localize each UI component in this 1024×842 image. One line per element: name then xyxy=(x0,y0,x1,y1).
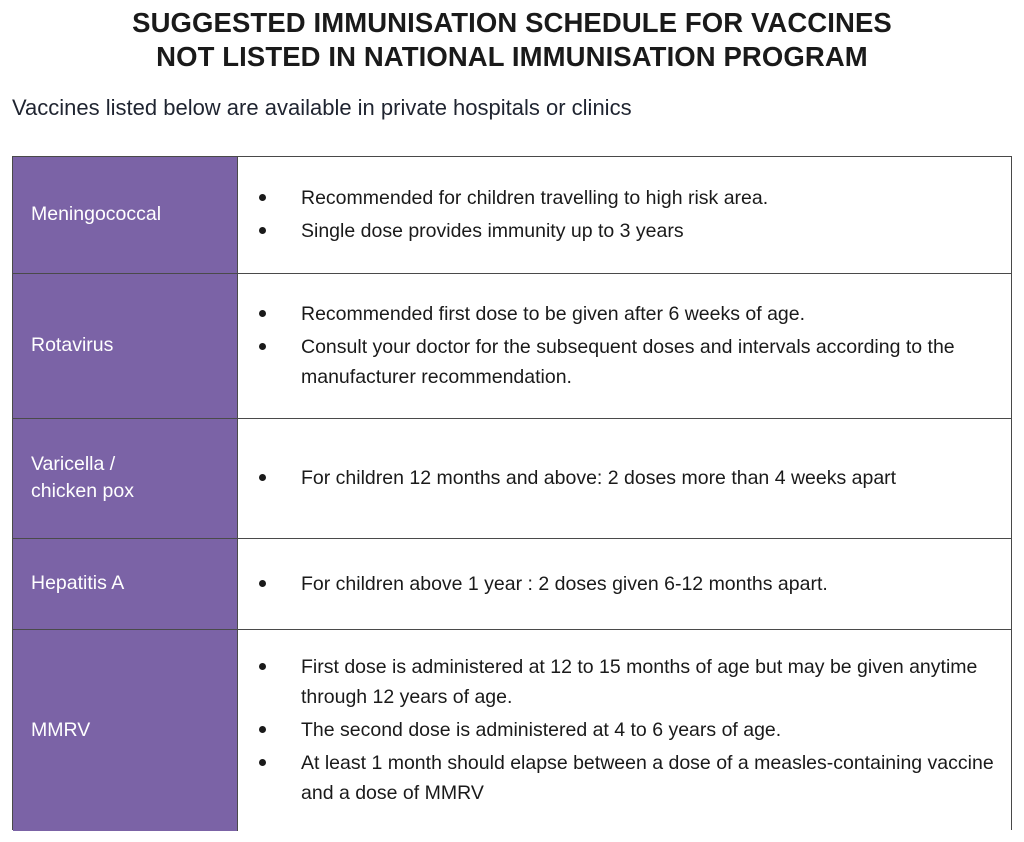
table-row: MeningococcalRecommended for children tr… xyxy=(13,157,1011,273)
table-row: Hepatitis AFor children above 1 year : 2… xyxy=(13,538,1011,629)
recommendation-item: Consult your doctor for the subsequent d… xyxy=(256,332,995,392)
vaccine-schedule-table-container: MeningococcalRecommended for children tr… xyxy=(12,156,1012,830)
vaccine-schedule-table: MeningococcalRecommended for children tr… xyxy=(13,157,1011,831)
page-subtitle: Vaccines listed below are available in p… xyxy=(12,94,1024,122)
bullet-icon xyxy=(259,726,266,733)
vaccine-detail-cell: For children 12 months and above: 2 dose… xyxy=(238,418,1012,538)
recommendation-text: The second dose is administered at 4 to … xyxy=(301,719,781,741)
recommendation-item: Recommended for children travelling to h… xyxy=(256,183,995,213)
recommendation-item: The second dose is administered at 4 to … xyxy=(256,715,995,745)
bullet-icon xyxy=(259,474,266,481)
recommendation-item: Recommended first dose to be given after… xyxy=(256,299,995,329)
recommendation-list: For children 12 months and above: 2 dose… xyxy=(256,463,995,493)
recommendation-list: For children above 1 year : 2 doses give… xyxy=(256,569,995,599)
vaccine-schedule-table-body: MeningococcalRecommended for children tr… xyxy=(13,157,1011,831)
page-title-line-1: SUGGESTED IMMUNISATION SCHEDULE FOR VACC… xyxy=(34,6,990,40)
page-title-line-2: NOT LISTED IN NATIONAL IMMUNISATION PROG… xyxy=(34,40,990,74)
vaccine-name-line: Rotavirus xyxy=(31,332,227,359)
recommendation-text: For children above 1 year : 2 doses give… xyxy=(301,573,828,595)
vaccine-name-line: Meningococcal xyxy=(31,201,227,228)
vaccine-name-line: MMRV xyxy=(31,717,227,744)
recommendation-list: First dose is administered at 12 to 15 m… xyxy=(256,652,995,808)
bullet-icon xyxy=(259,759,266,766)
recommendation-text: First dose is administered at 12 to 15 m… xyxy=(301,656,977,708)
recommendation-list: Recommended for children travelling to h… xyxy=(256,183,995,246)
bullet-icon xyxy=(259,580,266,587)
bullet-icon xyxy=(259,194,266,201)
recommendation-list: Recommended first dose to be given after… xyxy=(256,299,995,392)
vaccine-name-line: Varicella / xyxy=(31,451,227,478)
recommendation-item: For children above 1 year : 2 doses give… xyxy=(256,569,995,599)
vaccine-detail-cell: First dose is administered at 12 to 15 m… xyxy=(238,629,1012,831)
vaccine-detail-cell: Recommended first dose to be given after… xyxy=(238,273,1012,418)
recommendation-text: Recommended for children travelling to h… xyxy=(301,187,768,209)
bullet-icon xyxy=(259,227,266,234)
recommendation-text: At least 1 month should elapse between a… xyxy=(301,752,994,804)
bullet-icon xyxy=(259,663,266,670)
recommendation-item: Single dose provides immunity up to 3 ye… xyxy=(256,216,995,246)
recommendation-item: For children 12 months and above: 2 dose… xyxy=(256,463,995,493)
page-title: SUGGESTED IMMUNISATION SCHEDULE FOR VACC… xyxy=(0,0,1024,74)
recommendation-text: Single dose provides immunity up to 3 ye… xyxy=(301,220,684,242)
bullet-icon xyxy=(259,310,266,317)
recommendation-text: For children 12 months and above: 2 dose… xyxy=(301,467,896,489)
vaccine-name-cell: Varicella /chicken pox xyxy=(13,418,238,538)
recommendation-text: Consult your doctor for the subsequent d… xyxy=(301,336,955,388)
table-row: RotavirusRecommended first dose to be gi… xyxy=(13,273,1011,418)
vaccine-name-line: chicken pox xyxy=(31,478,227,505)
bullet-icon xyxy=(259,343,266,350)
vaccine-name-cell: Rotavirus xyxy=(13,273,238,418)
recommendation-item: First dose is administered at 12 to 15 m… xyxy=(256,652,995,712)
table-row: Varicella /chicken poxFor children 12 mo… xyxy=(13,418,1011,538)
vaccine-name-line: Hepatitis A xyxy=(31,570,227,597)
vaccine-name-cell: Hepatitis A xyxy=(13,538,238,629)
immunisation-schedule-page: SUGGESTED IMMUNISATION SCHEDULE FOR VACC… xyxy=(0,0,1024,842)
recommendation-text: Recommended first dose to be given after… xyxy=(301,303,805,325)
table-row: MMRVFirst dose is administered at 12 to … xyxy=(13,629,1011,831)
recommendation-item: At least 1 month should elapse between a… xyxy=(256,748,995,808)
vaccine-name-cell: Meningococcal xyxy=(13,157,238,273)
vaccine-detail-cell: For children above 1 year : 2 doses give… xyxy=(238,538,1012,629)
vaccine-name-cell: MMRV xyxy=(13,629,238,831)
vaccine-detail-cell: Recommended for children travelling to h… xyxy=(238,157,1012,273)
